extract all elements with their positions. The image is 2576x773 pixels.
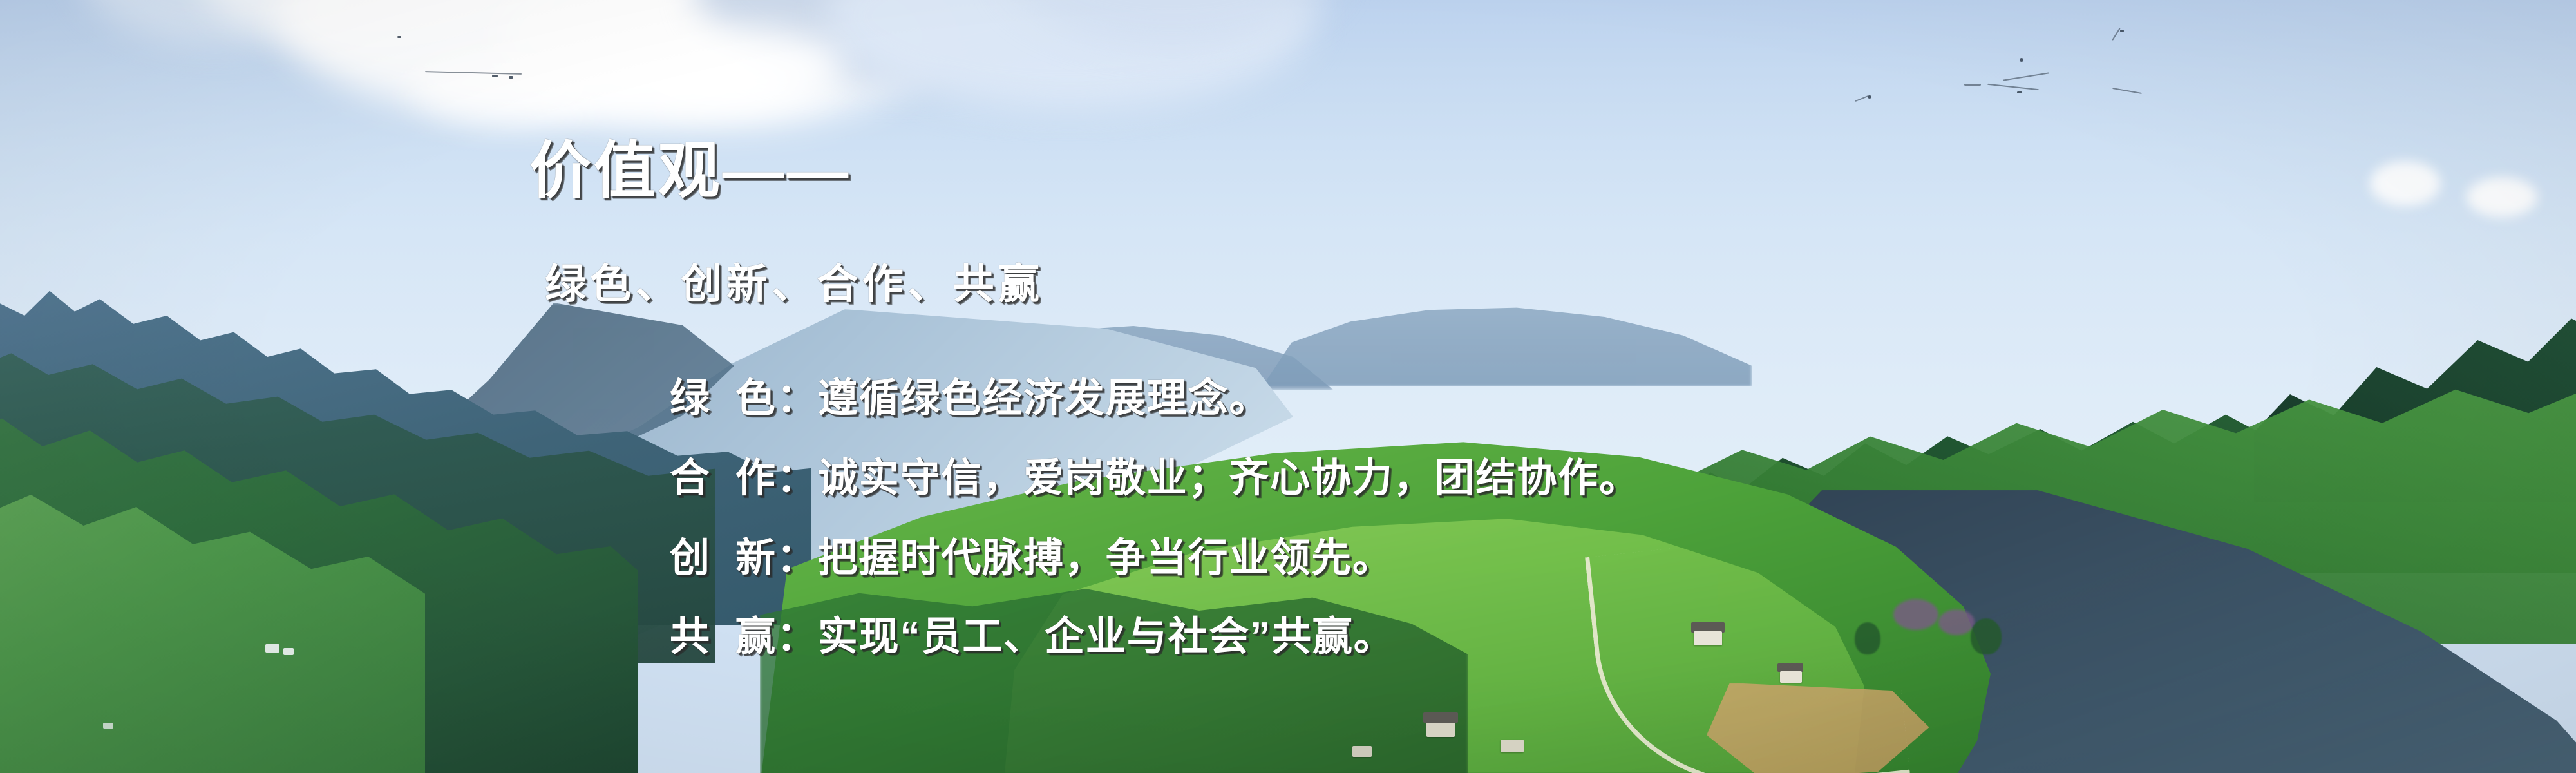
bird bbox=[2020, 58, 2023, 62]
bird bbox=[2017, 91, 2022, 93]
banner-image: 价值观—— 绿色、创新、合作、共赢 绿 色：遵循绿色经济发展理念。 合 作：诚实… bbox=[0, 0, 2576, 773]
cloud bbox=[2467, 177, 2537, 217]
bird bbox=[1964, 84, 1981, 86]
page-title: 价值观—— bbox=[529, 139, 851, 204]
value-item-cooperation: 合 作：诚实守信，爱岗敬业；齐心协力，团结协作。 bbox=[670, 459, 1640, 499]
bird bbox=[509, 76, 513, 79]
tree bbox=[1971, 618, 2002, 654]
house bbox=[1352, 746, 1372, 757]
value-item-winwin: 共 赢：实现“员工、企业与社会”共赢。 bbox=[670, 617, 1395, 657]
cloud bbox=[2370, 161, 2441, 206]
building bbox=[103, 723, 113, 729]
bird bbox=[2120, 30, 2124, 32]
bird bbox=[397, 36, 401, 38]
house-roof bbox=[1423, 712, 1458, 723]
house bbox=[1694, 631, 1722, 645]
bird bbox=[1868, 95, 1871, 99]
house bbox=[1426, 721, 1455, 737]
value-item-green: 绿 色：遵循绿色经济发展理念。 bbox=[670, 379, 1270, 419]
tree bbox=[1893, 599, 1938, 630]
house bbox=[1501, 740, 1524, 752]
cloud bbox=[412, 45, 599, 122]
bird bbox=[492, 75, 498, 77]
value-item-innovation: 创 新：把握时代脉搏，争当行业领先。 bbox=[670, 539, 1394, 578]
values-subtitle: 绿色、创新、合作、共赢 bbox=[545, 263, 1043, 306]
cloud bbox=[631, 26, 844, 110]
building bbox=[283, 648, 294, 655]
house bbox=[1780, 671, 1802, 683]
tree bbox=[1938, 609, 1975, 635]
tree bbox=[1855, 622, 1880, 654]
building bbox=[265, 644, 279, 653]
